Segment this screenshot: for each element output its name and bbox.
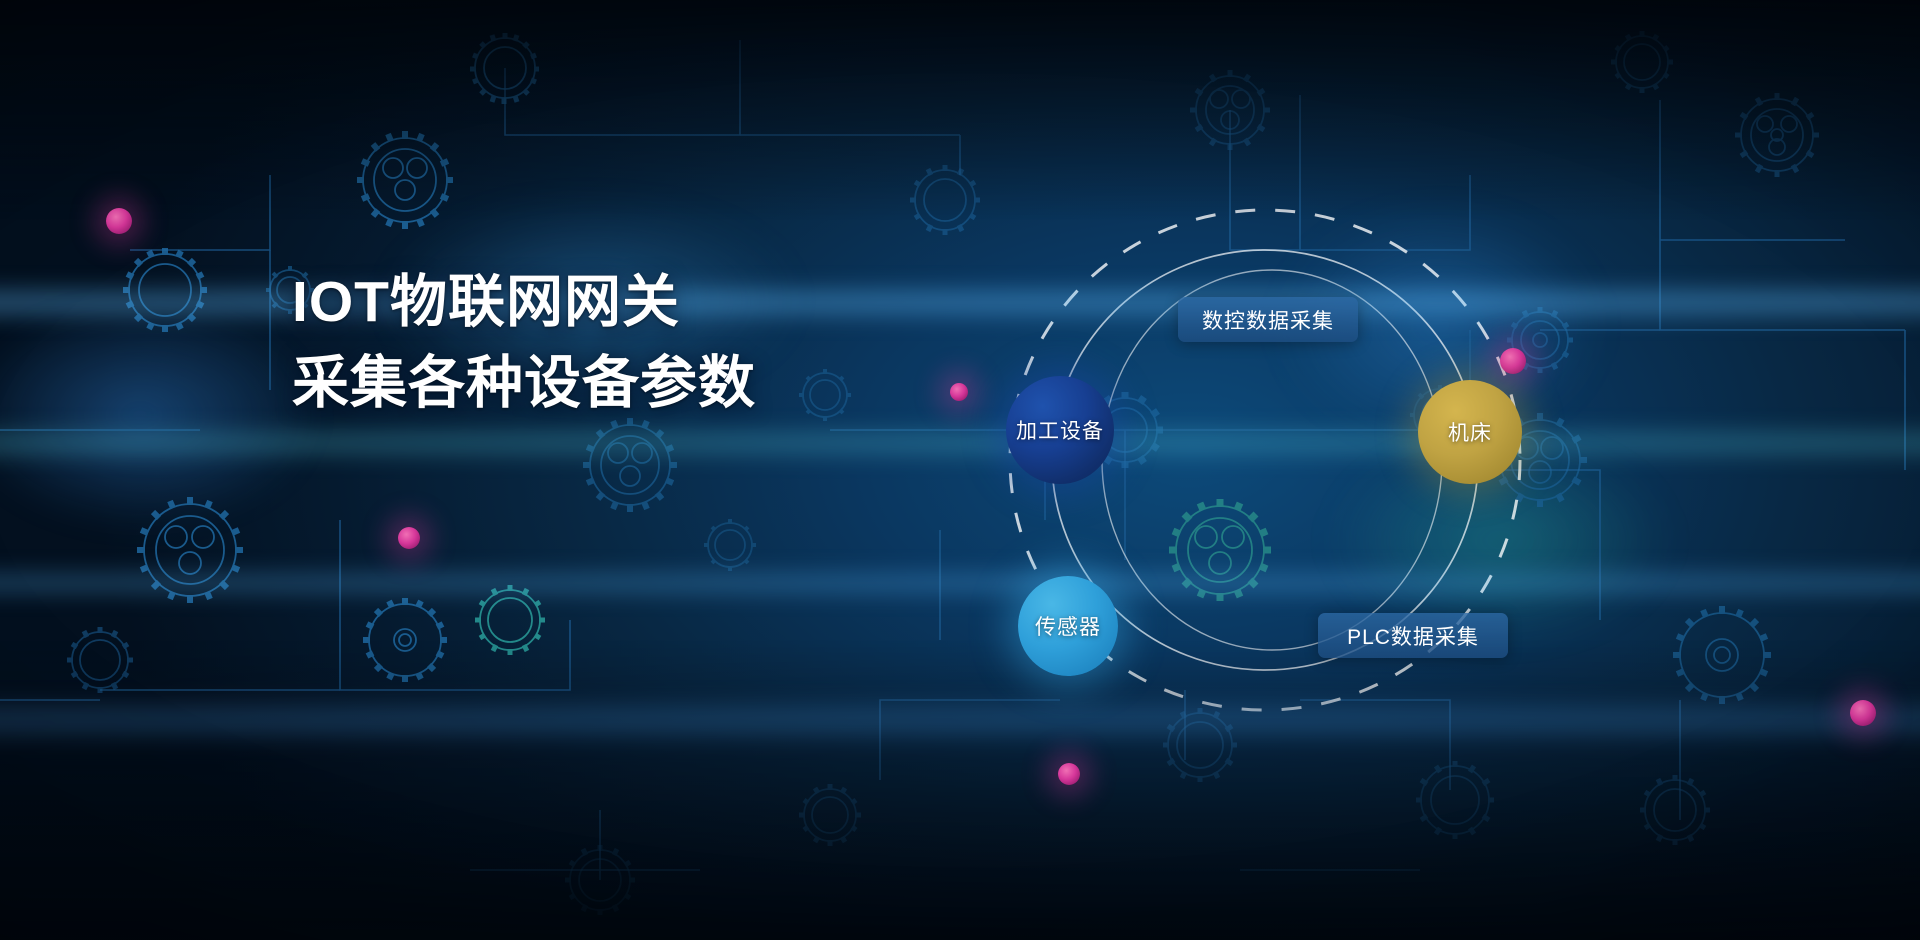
edge-vignette [0,0,1920,940]
banner-stage: IOT物联网网关 采集各种设备参数 加工设备 机床 传感器 数控数据采集 PLC… [0,0,1920,940]
